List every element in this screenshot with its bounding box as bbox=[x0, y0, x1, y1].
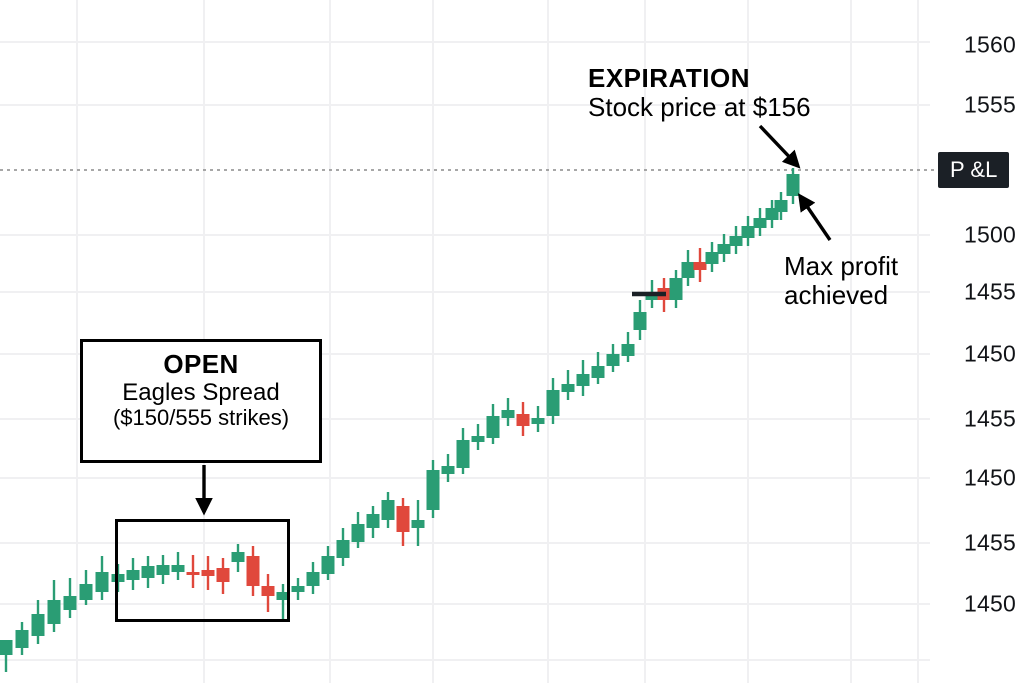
expiration-arrow bbox=[760, 126, 798, 166]
y-axis-tick-label: 1455 bbox=[964, 406, 1016, 433]
y-axis-tick-label: 1455 bbox=[964, 530, 1016, 557]
max-profit-line1: Max profit bbox=[784, 252, 898, 281]
candlestick-chart: 156015551500145514501455145014551450 P &… bbox=[0, 0, 1024, 683]
pl-badge: P &L bbox=[938, 152, 1009, 188]
expiration-annotation: EXPIRATION Stock price at $156 bbox=[588, 64, 811, 122]
y-axis-tick-label: 1450 bbox=[964, 341, 1016, 368]
y-axis-tick-label: 1500 bbox=[964, 222, 1016, 249]
open-callout-subtitle: Eagles Spread bbox=[93, 379, 309, 406]
open-callout-title: OPEN bbox=[93, 350, 309, 379]
open-annotation-callout: OPEN Eagles Spread ($150/555 strikes) bbox=[80, 339, 322, 463]
y-axis-tick-label: 1555 bbox=[964, 92, 1016, 119]
expiration-title: EXPIRATION bbox=[588, 64, 811, 93]
max-profit-line2: achieved bbox=[784, 281, 898, 310]
expiration-subtitle: Stock price at $156 bbox=[588, 93, 811, 122]
max-profit-arrow bbox=[800, 196, 830, 240]
max-profit-annotation: Max profit achieved bbox=[784, 252, 898, 310]
y-axis-tick-label: 1450 bbox=[964, 465, 1016, 492]
open-region-highlight-box bbox=[115, 519, 290, 622]
y-axis-tick-label: 1455 bbox=[964, 279, 1016, 306]
open-callout-detail: ($150/555 strikes) bbox=[93, 406, 309, 431]
y-axis-tick-label: 1560 bbox=[964, 32, 1016, 59]
y-axis-tick-label: 1450 bbox=[964, 591, 1016, 618]
pl-badge-label: P &L bbox=[950, 157, 997, 182]
